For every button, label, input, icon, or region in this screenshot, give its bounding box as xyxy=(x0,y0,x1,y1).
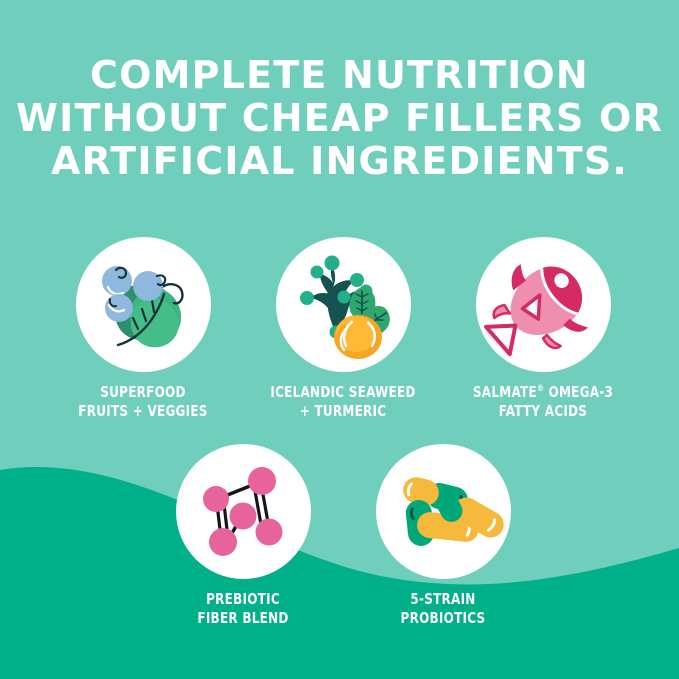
badge-label-line-2: FATTY ACIDS xyxy=(470,402,616,421)
badge-label-salmate: SALMATE® OMEGA-3 FATTY ACIDS xyxy=(470,383,616,421)
badge-salmate: SALMATE® OMEGA-3 FATTY ACIDS xyxy=(458,237,628,421)
badge-label-prebiotic: PREBIOTIC FIBER BLEND xyxy=(170,590,316,628)
badge-label-line-2: PROBIOTICS xyxy=(370,609,516,628)
badge-circle-probiotics xyxy=(376,444,511,579)
badge-label-seaweed: ICELANDIC SEAWEED + TURMERIC xyxy=(270,383,416,421)
badge-circle-superfood xyxy=(76,237,211,372)
badge-circle-salmate xyxy=(476,237,611,372)
badge-label-line-1: SALMATE® OMEGA-3 xyxy=(470,383,616,402)
badge-prebiotic: PREBIOTIC FIBER BLEND xyxy=(158,444,328,628)
blueberries-and-leafy-greens-icon xyxy=(76,237,211,372)
badge-seaweed: ICELANDIC SEAWEED + TURMERIC xyxy=(258,237,428,421)
page-title: COMPLETE NUTRITION WITHOUT CHEAP FILLERS… xyxy=(0,54,679,183)
headline-line-2: WITHOUT CHEAP FILLERS OR xyxy=(0,97,679,140)
badge-label-line-1: ICELANDIC SEAWEED xyxy=(270,383,416,402)
badge-label-superfood: SUPERFOOD FRUITS + VEGGIES xyxy=(70,383,216,421)
headline-line-1: COMPLETE NUTRITION xyxy=(0,54,679,97)
molecule-chain-icon xyxy=(176,444,311,579)
probiotic-capsules-icon xyxy=(376,444,511,579)
badge-label-line-1: 5-STRAIN xyxy=(370,590,516,609)
brand-name: SALMATE xyxy=(473,383,537,401)
badge-label-line-2: FIBER BLEND xyxy=(170,609,316,628)
badge-label-line-2: + TURMERIC xyxy=(270,402,416,421)
seaweed-and-turmeric-icon xyxy=(276,237,411,372)
badge-label-line-1: PREBIOTIC xyxy=(170,590,316,609)
headline-line-3: ARTIFICIAL INGREDIENTS. xyxy=(0,140,679,183)
badge-probiotics: 5-STRAIN PROBIOTICS xyxy=(358,444,528,628)
badge-circle-prebiotic xyxy=(176,444,311,579)
poster-canvas: COMPLETE NUTRITION WITHOUT CHEAP FILLERS… xyxy=(0,0,679,679)
salmon-fish-icon xyxy=(476,237,611,372)
brand-suffix: OMEGA-3 xyxy=(544,383,613,401)
badge-label-probiotics: 5-STRAIN PROBIOTICS xyxy=(370,590,516,628)
badge-superfood: SUPERFOOD FRUITS + VEGGIES xyxy=(58,237,228,421)
badge-circle-seaweed xyxy=(276,237,411,372)
badge-label-line-1: SUPERFOOD xyxy=(70,383,216,402)
badge-label-line-2: FRUITS + VEGGIES xyxy=(70,402,216,421)
